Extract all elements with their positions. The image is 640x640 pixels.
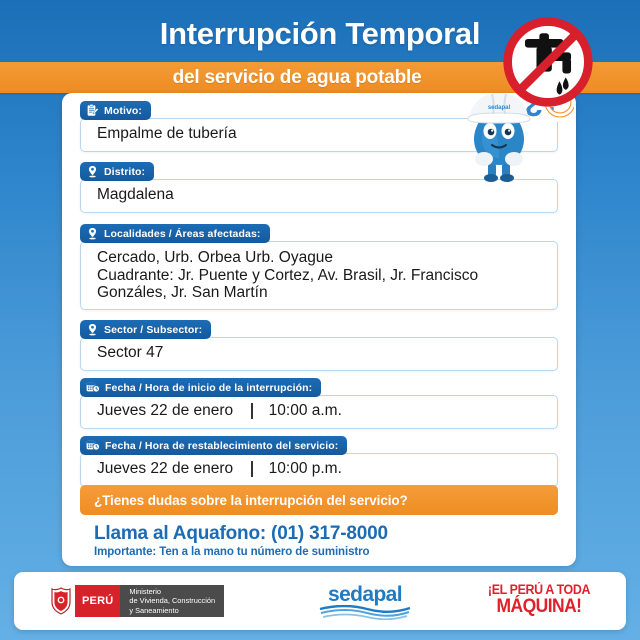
field-fecha-inicio-label-chip: Fecha / Hora de inicio de la interrupció… [80,378,321,397]
localidades-line-3: Gonzáles, Jr. San Martín [97,284,547,302]
field-localidades-label: Localidades / Áreas afectadas: [104,228,261,240]
peru-shield-icon [47,585,75,617]
field-localidades-value[interactable]: Cercado, Urb. Orbea Urb. Oyague Cuadrant… [80,241,558,310]
localidades-line-1: Cercado, Urb. Orbea Urb. Oyague [97,249,547,267]
field-localidades: Localidades / Áreas afectadas: Cercado, … [80,224,558,310]
value-separator [251,461,253,477]
fecha-inicio-date: Jueves 22 de enero [97,402,233,419]
page-subtitle: del servicio de agua potable [173,67,422,89]
slogan-line-2: MÁQUINA! [470,597,608,616]
help-question-text: ¿Tienes dudas sobre la interrupción del … [94,493,408,508]
field-fecha-inicio: Fecha / Hora de inicio de la interrupció… [80,378,558,429]
field-distrito-label: Distrito: [104,166,145,178]
calendar-clock-icon [86,381,100,394]
field-fecha-inicio-value[interactable]: Jueves 22 de enero 10:00 a.m. [80,395,558,429]
help-question-band: ¿Tienes dudas sobre la interrupción del … [80,485,558,515]
fecha-restablecimiento-time: 10:00 p.m. [269,460,342,477]
logo-ministerio-peru: PERÚ Ministerio de Vivienda, Construcció… [47,585,224,617]
ministry-line-1: Ministerio [129,587,215,596]
logo-peru-a-toda-maquina: ¡EL PERÚ A TODA MÁQUINA! [464,583,614,616]
ministry-block: Ministerio de Vivienda, Construcción y S… [120,585,224,617]
footer-bar: PERÚ Ministerio de Vivienda, Construcció… [14,572,626,630]
field-motivo-label: Motivo: [104,105,142,117]
field-sector-value[interactable]: Sector 47 [80,337,558,371]
localidades-line-2: Cuadrante: Jr. Puente y Cortez, Av. Bras… [97,267,547,285]
field-fecha-restablecimiento-label-chip: Fecha / Hora de restablecimiento del ser… [80,436,347,455]
fecha-restablecimiento-date: Jueves 22 de enero [97,460,233,477]
peru-label: PERÚ [75,585,120,617]
map-pin-icon [86,165,99,178]
field-fecha-restablecimiento-value[interactable]: Jueves 22 de enero 10:00 p.m. [80,453,558,487]
notice-card: Motivo: Empalme de tubería Distrito: Mag… [62,93,576,566]
ministry-line-3: y Saneamiento [129,606,215,615]
field-sector-label-chip: Sector / Subsector: [80,320,211,339]
field-sector-label: Sector / Subsector: [104,324,202,336]
slogan-line-1: ¡EL PERÚ A TODA [470,583,608,597]
field-motivo-label-chip: Motivo: [80,101,151,120]
fecha-inicio-time: 10:00 a.m. [269,402,342,419]
aquafono-phone-line[interactable]: Llama al Aquafono: (01) 317-8000 [94,523,388,545]
field-distrito-label-chip: Distrito: [80,162,154,181]
map-pin-icon [86,323,99,336]
sedapal-wordmark: sedapal [317,584,413,605]
field-localidades-label-chip: Localidades / Áreas afectadas: [80,224,270,243]
aquafono-note: Importante: Ten a la mano tu número de s… [94,546,369,558]
field-sector: Sector / Subsector: Sector 47 [80,320,558,371]
no-water-faucet-icon [500,14,596,110]
field-fecha-inicio-label: Fecha / Hora de inicio de la interrupció… [105,382,312,394]
map-pin-icon [86,227,99,240]
clipboard-pencil-icon [86,104,99,117]
calendar-clock-icon [86,439,100,452]
field-fecha-restablecimiento: Fecha / Hora de restablecimiento del ser… [80,436,558,487]
logo-sedapal: sedapal [317,584,413,625]
field-fecha-restablecimiento-label: Fecha / Hora de restablecimiento del ser… [105,440,338,452]
value-separator [251,403,253,419]
ministry-line-2: de Vivienda, Construcción [129,596,215,605]
sedapal-waves-icon [317,605,413,620]
